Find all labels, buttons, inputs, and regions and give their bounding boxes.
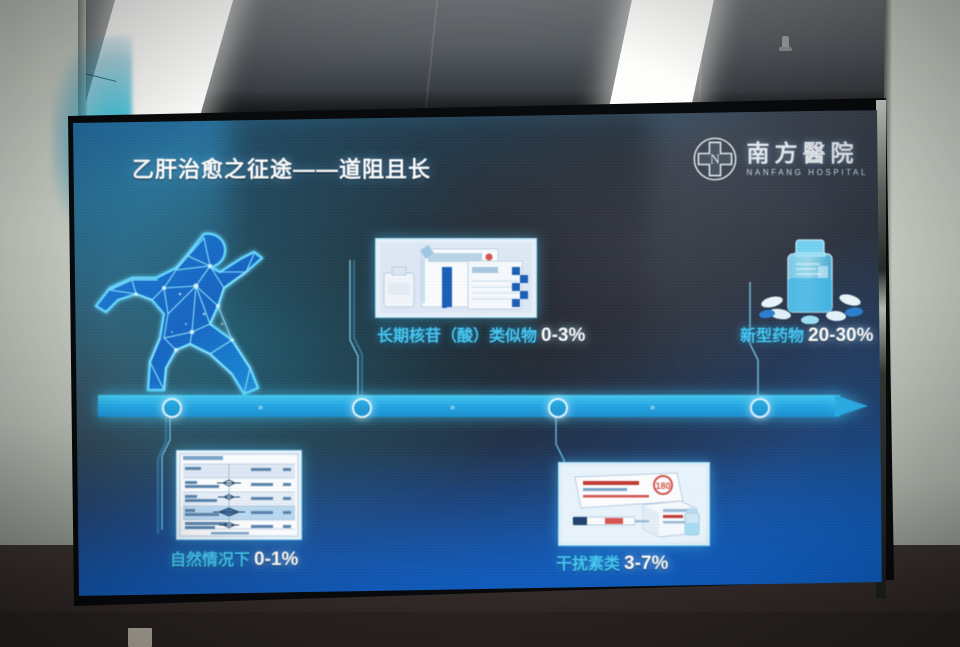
label-novel-value: 20-30% [808, 325, 874, 346]
progress-timeline: » » » [98, 395, 868, 417]
room-photo: 乙肝治愈之征途——道阻且长 N 南方醫院 NANFANG HOSPITAL [0, 0, 960, 647]
label-natural: 自然情况下0-1% [170, 546, 298, 571]
timeline-bar [98, 395, 840, 417]
svg-text:180: 180 [655, 481, 670, 491]
thumbnail-forest-plot-table [176, 450, 302, 540]
label-interferon-value: 3-7% [624, 553, 668, 574]
timeline-node-natural[interactable] [162, 398, 182, 418]
thumbnail-interferon-package: 180 [558, 462, 710, 546]
thumbnail-nucleoside-drug-package [375, 238, 537, 318]
right-wall [884, 0, 960, 600]
label-novel-text: 新型药物 [740, 328, 804, 345]
label-novel: 新型药物20-30% [740, 322, 874, 347]
label-natural-value: 0-1% [254, 549, 298, 570]
thumbnail-pill-bottle [750, 228, 870, 324]
chevron-right-icon: » [258, 402, 262, 412]
chevron-right-icon: » [650, 402, 654, 412]
label-nucleoside: 长期核苷（酸）类似物0-3% [377, 322, 585, 347]
timeline-node-nucleoside[interactable] [352, 398, 372, 418]
timeline-node-interferon[interactable] [548, 398, 568, 418]
wall-outlet [128, 628, 152, 647]
timeline-arrowhead-icon [835, 395, 868, 417]
presentation-slide: 乙肝治愈之征途——道阻且长 N 南方醫院 NANFANG HOSPITAL [70, 110, 882, 596]
sprinkler-icon [782, 36, 789, 49]
chevron-right-icon: » [450, 402, 454, 412]
label-interferon-text: 干扰素类 [556, 556, 620, 573]
label-nucleoside-text: 长期核苷（酸）类似物 [377, 328, 537, 345]
label-nucleoside-value: 0-3% [541, 325, 585, 346]
label-natural-text: 自然情况下 [170, 552, 250, 569]
timeline-node-novel[interactable] [750, 398, 770, 418]
label-interferon: 干扰素类3-7% [556, 550, 668, 575]
